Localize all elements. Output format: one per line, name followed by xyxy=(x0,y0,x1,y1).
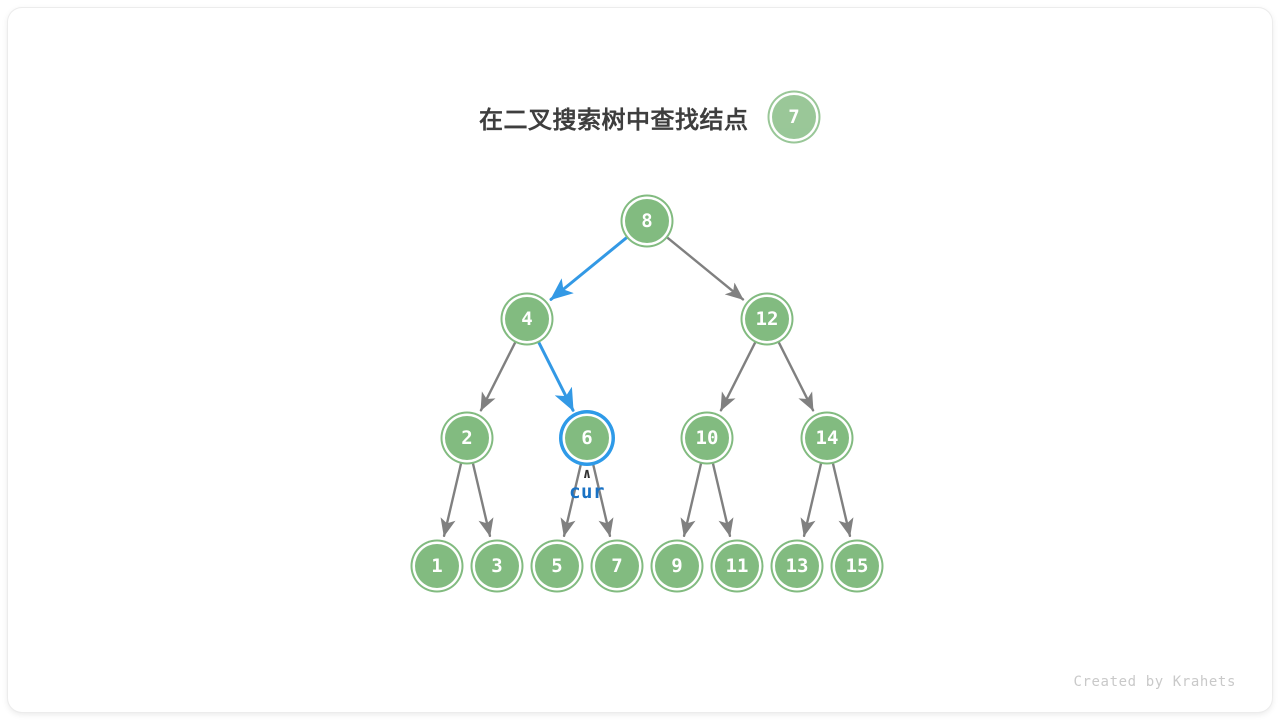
tree-edge xyxy=(444,462,461,535)
tree-edge xyxy=(551,237,628,300)
tree-edge xyxy=(804,462,821,535)
tree-node-2[interactable]: 2 xyxy=(445,416,489,460)
tree-node-7[interactable]: 7 xyxy=(595,544,639,588)
illustration-card: 在二叉搜索树中查找结点 7 841226101413579111315 ∧cur xyxy=(8,8,1272,712)
tree-node-6[interactable]: 6 xyxy=(565,416,609,460)
tree-edge xyxy=(684,462,701,535)
tree-node-15[interactable]: 15 xyxy=(835,544,879,588)
tree-node-12[interactable]: 12 xyxy=(745,297,789,341)
watermark-credit: Created by Krahets xyxy=(1073,674,1236,690)
tree-edge xyxy=(778,341,813,410)
tree-node-3[interactable]: 3 xyxy=(475,544,519,588)
tree-edge xyxy=(473,462,490,535)
tree-node-13[interactable]: 13 xyxy=(775,544,819,588)
tree-edge xyxy=(481,341,516,410)
tree-node-8[interactable]: 8 xyxy=(625,199,669,243)
tree-node-10[interactable]: 10 xyxy=(685,416,729,460)
pointer-label: cur xyxy=(569,481,605,503)
tree-edge xyxy=(666,237,743,300)
tree-node-14[interactable]: 14 xyxy=(805,416,849,460)
tree-node-5[interactable]: 5 xyxy=(535,544,579,588)
screenshot-canvas: 在二叉搜索树中查找结点 7 841226101413579111315 ∧cur xyxy=(0,0,1280,720)
pointer-cur: ∧cur xyxy=(569,468,605,503)
tree-edge xyxy=(713,462,730,535)
tree-node-4[interactable]: 4 xyxy=(505,297,549,341)
tree-edge xyxy=(833,462,850,535)
binary-search-tree-diagram: 841226101413579111315 ∧cur xyxy=(8,8,1272,712)
tree-edge xyxy=(538,341,573,410)
tree-edge xyxy=(721,341,756,410)
tree-node-1[interactable]: 1 xyxy=(415,544,459,588)
tree-node-11[interactable]: 11 xyxy=(715,544,759,588)
pointer-caret-icon: ∧ xyxy=(569,468,605,481)
tree-edges-layer xyxy=(8,8,1272,712)
tree-node-9[interactable]: 9 xyxy=(655,544,699,588)
